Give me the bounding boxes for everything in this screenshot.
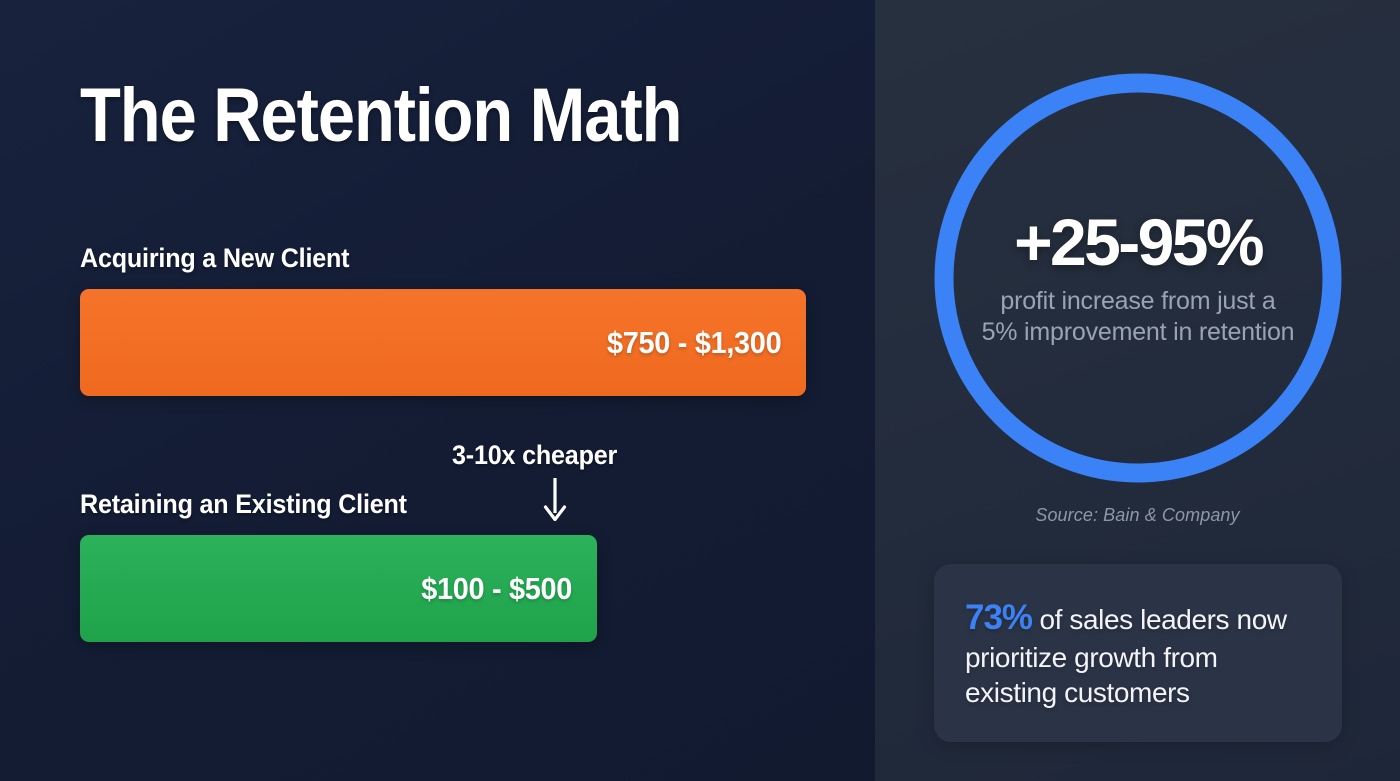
ring-inner-content: +25-95% profit increase from just a 5% i… <box>934 73 1342 483</box>
comparison-annotation: 3-10x cheaper <box>452 440 712 521</box>
bar-value-acquire: $750 - $1,300 <box>607 325 806 361</box>
bar-group-retain: Retaining an Existing Client $100 - $500 <box>0 489 875 642</box>
bar-label-acquire: Acquiring a New Client <box>80 243 819 274</box>
ring-stat: +25-95% profit increase from just a 5% i… <box>934 73 1342 483</box>
source-note: Source: Bain & Company <box>875 505 1400 526</box>
ring-caption: profit increase from just a 5% improveme… <box>980 286 1296 347</box>
infographic-slide: The Retention Math Acquiring a New Clien… <box>0 0 1400 781</box>
stat-card: 73% of sales leaders now prioritize grow… <box>934 564 1342 742</box>
bar-value-retain: $100 - $500 <box>421 571 597 607</box>
ring-big-number: +25-95% <box>1014 209 1262 275</box>
page-title: The Retention Math <box>80 78 681 154</box>
left-panel: The Retention Math Acquiring a New Clien… <box>0 0 875 781</box>
right-panel: +25-95% profit increase from just a 5% i… <box>875 0 1400 781</box>
stat-card-percent: 73% <box>965 598 1032 637</box>
comparison-label: 3-10x cheaper <box>452 440 694 471</box>
bar-acquire: $750 - $1,300 <box>80 289 806 396</box>
bar-retain: $100 - $500 <box>80 535 597 642</box>
stat-card-text: 73% of sales leaders now prioritize grow… <box>934 596 1342 711</box>
bar-group-acquire: Acquiring a New Client $750 - $1,300 <box>0 243 875 396</box>
arrow-down-icon <box>541 477 569 521</box>
